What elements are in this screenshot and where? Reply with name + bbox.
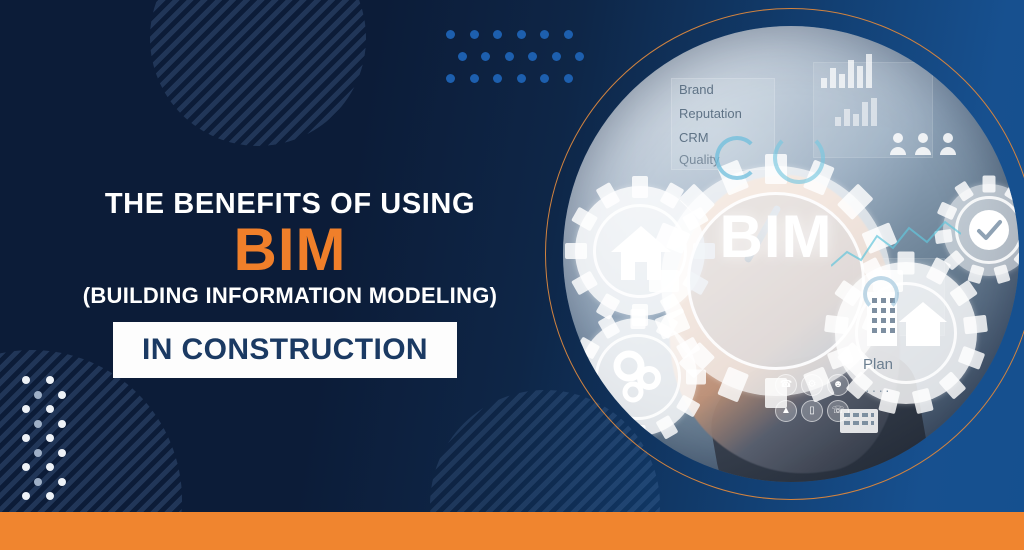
gears-icon (607, 346, 669, 413)
decorative-dot (34, 449, 42, 457)
bim-promo-banner: Brand Reputation CRM Quality (0, 0, 1024, 550)
gear-tooth (631, 309, 646, 329)
arc-ring-1 (715, 136, 759, 180)
decorative-dot (446, 30, 455, 39)
decorative-dot (46, 376, 54, 384)
decorative-dot (58, 478, 66, 486)
chat-icon: ▯ (801, 400, 823, 422)
decorative-dot (58, 449, 66, 457)
photo-label-quality: Quality (679, 152, 719, 167)
decorative-dot (22, 434, 30, 442)
decorative-dot (458, 52, 467, 61)
photo-label-brand: Brand (679, 82, 714, 97)
gear-tooth (649, 270, 679, 292)
striped-circle-top-left (150, 0, 366, 146)
decorative-dot (470, 74, 479, 83)
decorative-dot (34, 391, 42, 399)
decorative-dot (46, 434, 54, 442)
decorative-dot (22, 405, 30, 413)
decorative-dot (58, 391, 66, 399)
decorative-dot (34, 478, 42, 486)
gear-check-icon (961, 202, 1017, 263)
bottom-orange-bar (0, 512, 1024, 550)
decorative-dot (46, 463, 54, 471)
gear-tooth (686, 370, 706, 385)
photo-label-reputation: Reputation (679, 106, 742, 121)
photo-bar-chart-top (821, 54, 872, 88)
arc-ring-3 (863, 276, 899, 312)
lightbulb-icon: ☻ (827, 374, 849, 396)
hero-photo: Brand Reputation CRM Quality (563, 26, 1019, 482)
decorative-dot (46, 492, 54, 500)
cta-label: IN CONSTRUCTION (142, 333, 428, 367)
decorative-dot (446, 74, 455, 83)
headline-bim: BIM (0, 218, 580, 281)
photo-label-plan: Plan (863, 356, 893, 373)
icon-pad: ☎ ⚙ ☻ ▲ ▯ ☏ (775, 374, 849, 422)
gear-tooth (824, 315, 849, 335)
line-graph (831, 216, 961, 281)
decorative-dot (481, 52, 490, 61)
photo-bar-chart-second (835, 98, 877, 126)
phone-icon: ☎ (775, 374, 797, 396)
decorative-dot (22, 463, 30, 471)
gear-tooth (631, 425, 646, 445)
gear-tooth (963, 315, 988, 335)
chart-icon: ▲ (775, 400, 797, 422)
decorative-dot (517, 74, 526, 83)
headline-subtitle: (BUILDING INFORMATION MODELING) (0, 283, 580, 309)
decorative-dot (58, 420, 66, 428)
decorative-dot (517, 30, 526, 39)
hero-circular-image: Brand Reputation CRM Quality (545, 8, 1024, 500)
gear-tooth (570, 370, 590, 385)
arc-ring-2 (773, 132, 825, 184)
photo-plan-dots: ···· (865, 382, 892, 398)
settings-icon: ⚙ (801, 374, 823, 396)
people-icon (889, 130, 965, 161)
cta-box: IN CONSTRUCTION (113, 322, 457, 378)
decorative-dot (470, 30, 479, 39)
decorative-dot (22, 376, 30, 384)
decorative-dot (493, 74, 502, 83)
decorative-dot (493, 30, 502, 39)
decorative-dot (34, 420, 42, 428)
decorative-dot (505, 52, 514, 61)
decorative-dot (22, 492, 30, 500)
gear-tooth (632, 176, 648, 198)
decorative-dot (46, 405, 54, 413)
photo-label-crm: CRM (679, 130, 709, 145)
decorative-dot (528, 52, 537, 61)
calculator-icon (839, 408, 879, 439)
gear-tooth (983, 176, 996, 193)
